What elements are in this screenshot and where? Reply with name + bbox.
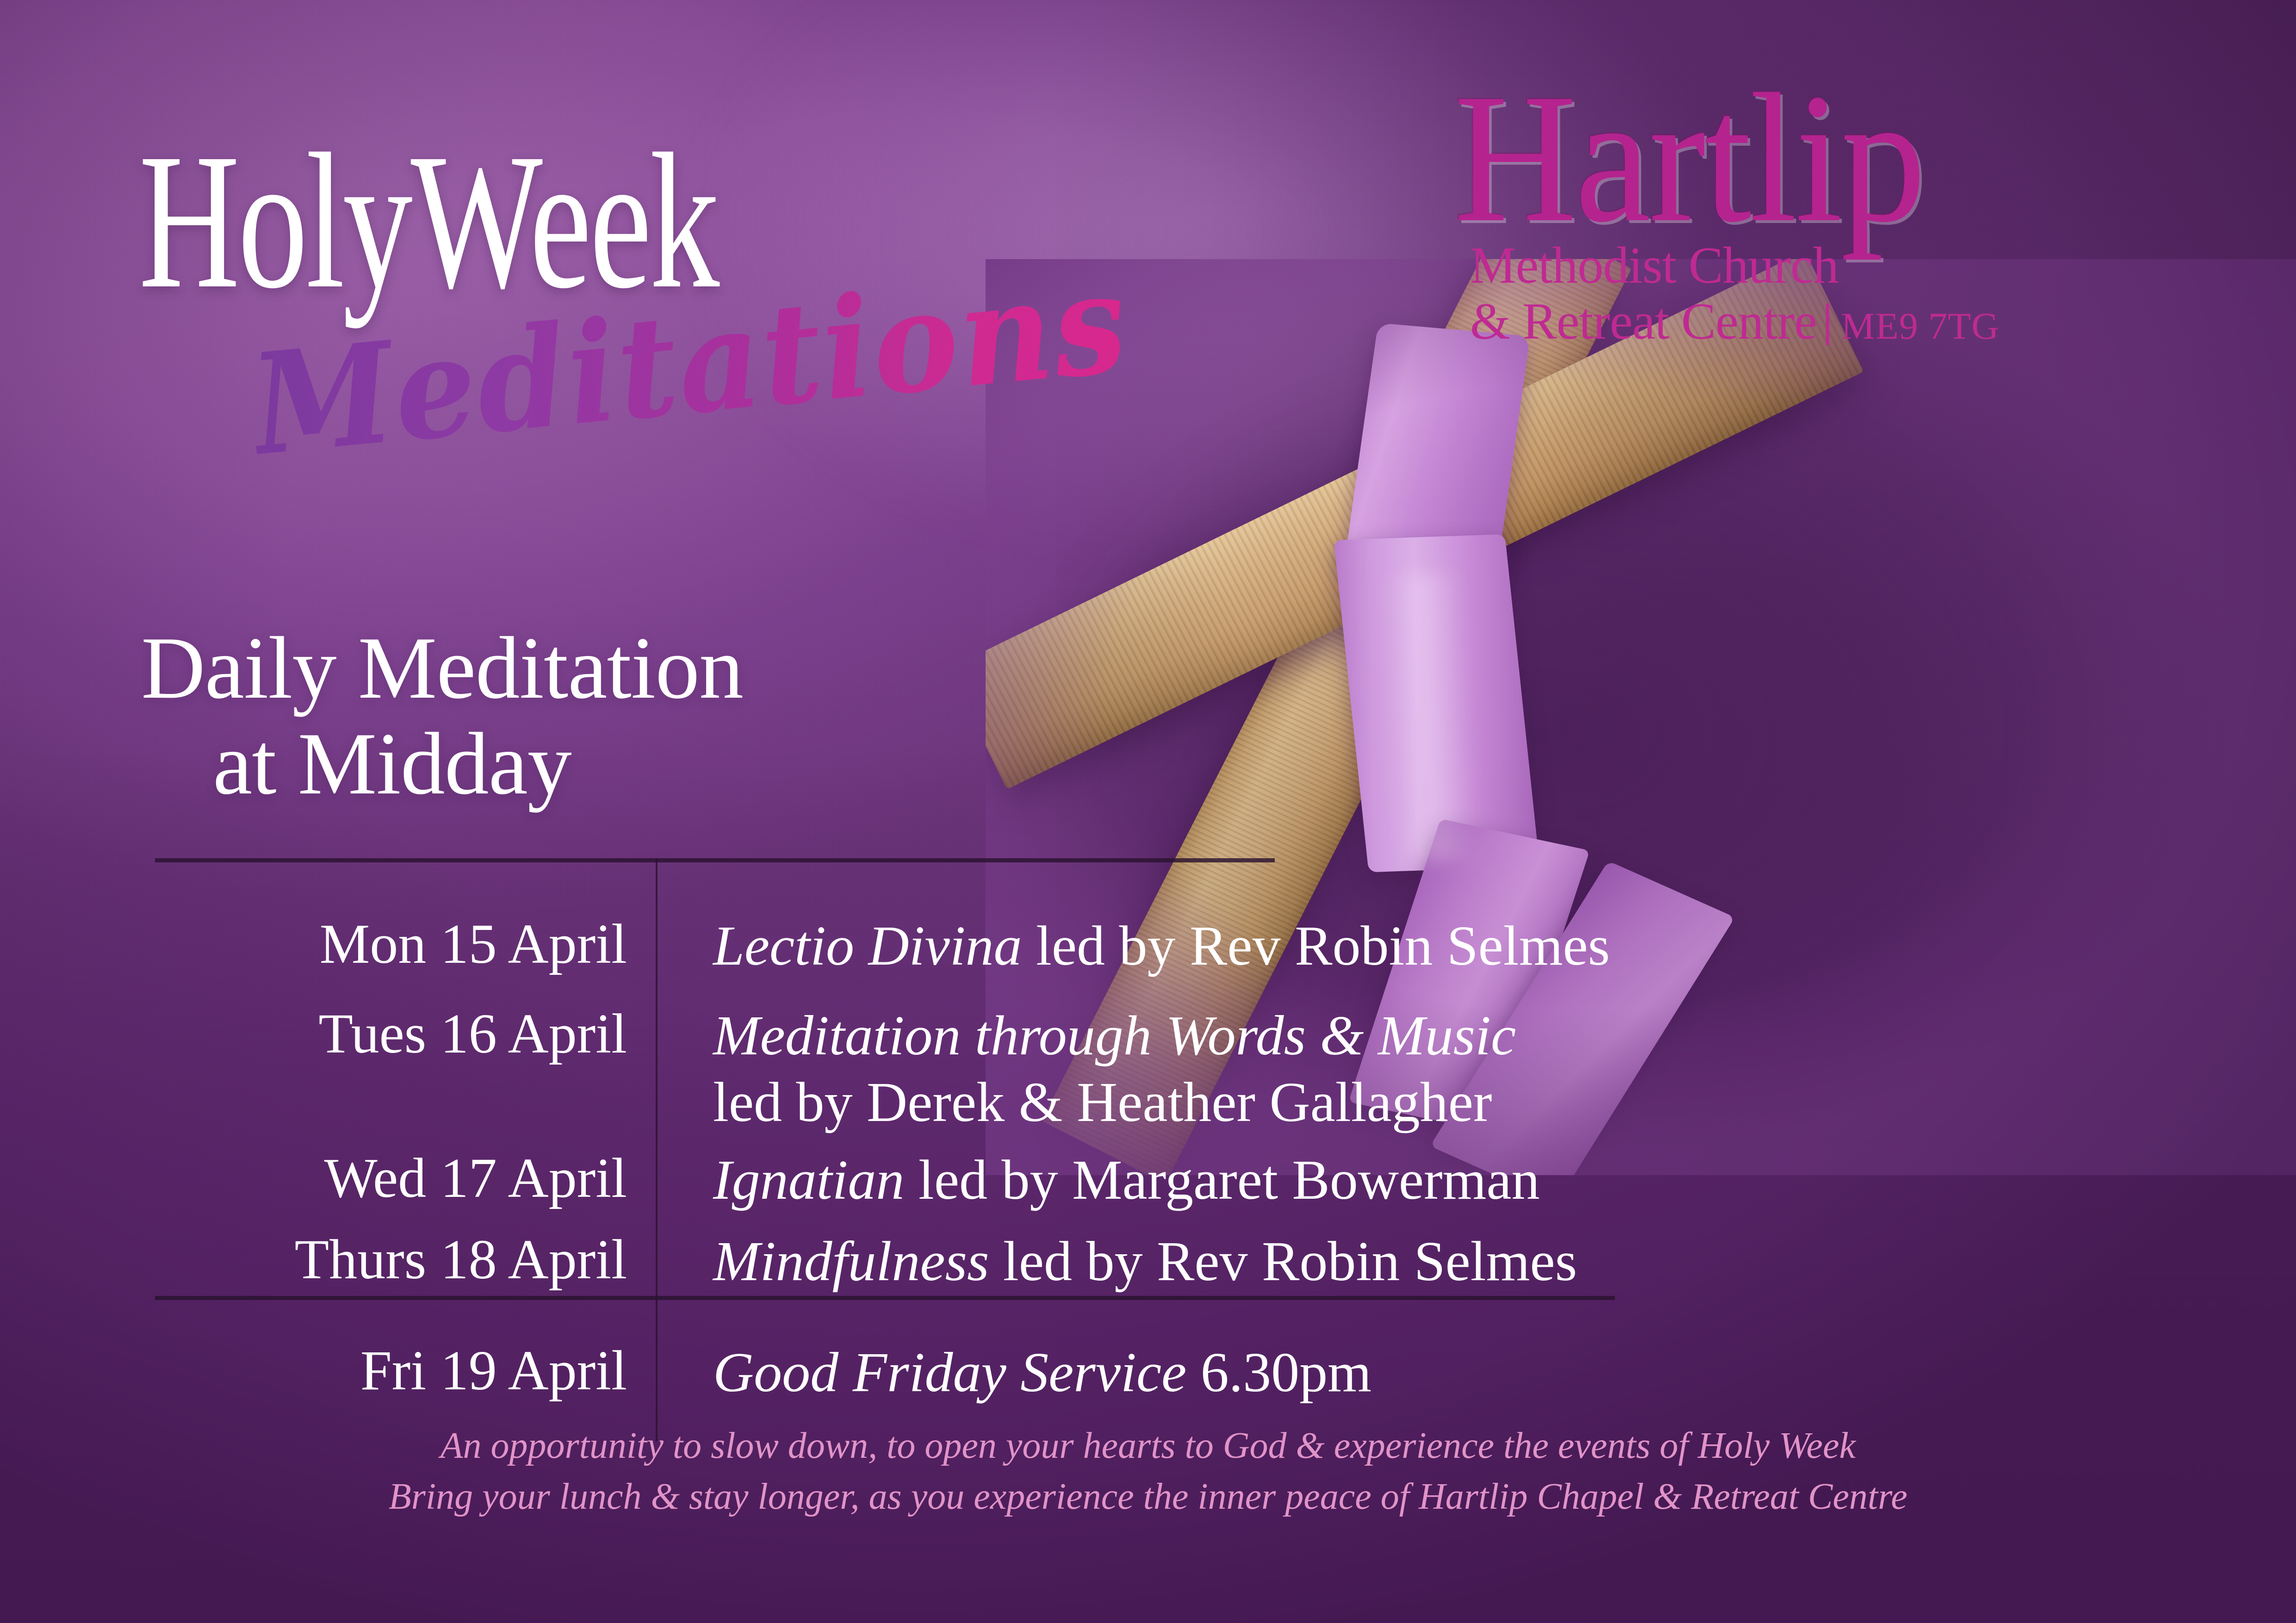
table-row: Mon 15 April Lectio Divina led by Rev Ro… bbox=[155, 913, 1636, 979]
schedule-description-emphasis: Good Friday Service bbox=[713, 1341, 1186, 1404]
logo-postcode: ME9 7TG bbox=[1841, 305, 1999, 347]
table-row: Fri 19 April Good Friday Service 6.30pm bbox=[155, 1339, 1636, 1406]
page-headline: Daily Meditation at Midday bbox=[141, 620, 743, 812]
schedule-description-emphasis: Mindfulness bbox=[713, 1230, 989, 1293]
footer-text: An opportunity to slow down, to open you… bbox=[0, 1420, 2296, 1523]
schedule-rule-bottom bbox=[155, 1296, 1615, 1300]
schedule-description-emphasis: Lectio Divina bbox=[713, 915, 1022, 977]
poster-title: HolyWeek bbox=[139, 132, 718, 310]
logo-subtitle-line2-text: & Retreat Centre bbox=[1470, 293, 1817, 350]
logo-divider-pipe bbox=[1826, 304, 1829, 345]
poster-canvas: HolyWeek Meditations Hartlip Methodist C… bbox=[0, 0, 2296, 1623]
schedule-description-rest: led by Rev Robin Selmes bbox=[1022, 915, 1610, 977]
logo-wordmark: Hartlip bbox=[1454, 79, 2160, 238]
schedule-description: Mindfulness led by Rev Robin Selmes bbox=[713, 1228, 1577, 1295]
schedule-date: Tues 16 April bbox=[155, 1003, 656, 1066]
table-row: Wed 17 April Ignatian led by Margaret Bo… bbox=[155, 1147, 1636, 1214]
schedule-description-emphasis: Meditation through Words & Music bbox=[713, 1004, 1516, 1067]
schedule-description-second-line: led by Derek & Heather Gallagher bbox=[713, 1069, 1516, 1136]
schedule-date: Mon 15 April bbox=[155, 913, 656, 976]
table-row: Thurs 18 April Mindfulness led by Rev Ro… bbox=[155, 1228, 1636, 1295]
schedule-description: Ignatian led by Margaret Bowerman bbox=[713, 1147, 1540, 1214]
schedule-rule-top bbox=[155, 858, 1275, 862]
footer-line-1: An opportunity to slow down, to open you… bbox=[0, 1420, 2296, 1471]
table-row: Tues 16 April Meditation through Words &… bbox=[155, 1003, 1636, 1136]
logo-subtitle-line2: & Retreat CentreME9 7TG bbox=[1470, 294, 2222, 350]
headline-line-1: Daily Meditation bbox=[141, 619, 743, 717]
schedule-description: Good Friday Service 6.30pm bbox=[713, 1339, 1371, 1406]
footer-line-2: Bring your lunch & stay longer, as you e… bbox=[0, 1471, 2296, 1522]
schedule-description-rest: 6.30pm bbox=[1186, 1341, 1371, 1404]
schedule-description-rest: led by Rev Robin Selmes bbox=[989, 1230, 1577, 1293]
schedule-description: Meditation through Words & Music led by … bbox=[713, 1003, 1516, 1136]
schedule-description-rest: led by Margaret Bowerman bbox=[904, 1149, 1539, 1211]
schedule-description-emphasis: Ignatian bbox=[713, 1149, 904, 1211]
schedule-date: Wed 17 April bbox=[155, 1147, 656, 1210]
headline-line-2: at Midday bbox=[141, 716, 743, 811]
schedule-date: Fri 19 April bbox=[155, 1339, 656, 1403]
schedule-description: Lectio Divina led by Rev Robin Selmes bbox=[713, 913, 1610, 979]
schedule-date: Thurs 18 April bbox=[155, 1228, 656, 1292]
hartlip-logo: Hartlip Methodist Church & Retreat Centr… bbox=[1445, 79, 2222, 350]
